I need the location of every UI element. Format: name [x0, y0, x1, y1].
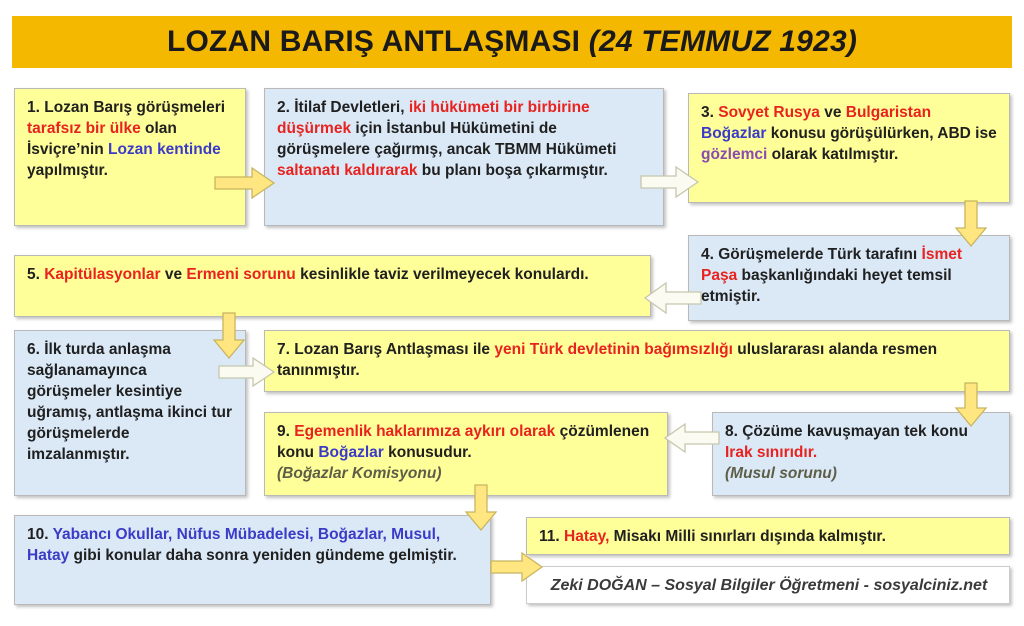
box9-highlight-blue-1: Boğazlar [318, 444, 383, 461]
box4-text-part2: başkanlığındaki heyet temsil etmiştir. [701, 267, 952, 305]
info-box-7: 7. Lozan Barış Antlaşması ile yeni Türk … [264, 330, 1010, 392]
box2-highlight-red-2: saltanatı kaldırarak [277, 162, 417, 179]
box3-text-part1: ve [820, 104, 846, 121]
box5-text-part2: kesinlikle taviz verilmeyecek konulardı. [296, 266, 589, 283]
arrow-box2-to-box3 [640, 165, 700, 199]
box8-note: (Musul sorunu) [725, 465, 837, 482]
arrow-box4-to-box5 [644, 281, 702, 315]
page-title-banner: LOZAN BARIŞ ANTLAŞMASI (24 TEMMUZ 1923) [12, 16, 1012, 68]
box5-highlight-red-1: Kapitülasyonlar [44, 266, 160, 283]
box1-text-part1: 1. Lozan Barış görüşmeleri [27, 99, 225, 116]
page-title-main: LOZAN BARIŞ ANTLAŞMASI [167, 25, 589, 58]
box3-highlight-blue-1: Boğazlar [701, 125, 766, 142]
arrow-box5-to-box6 [212, 312, 246, 360]
box2-text-part3: bu planı boşa çıkarmıştır. [417, 162, 607, 179]
page-title-date: (24 TEMMUZ 1923) [589, 25, 857, 58]
box8-text-part1: 8. Çözüme kavuşmayan tek konu [725, 423, 968, 440]
box11-number: 11. [539, 528, 564, 545]
box2-text-part1: 2. İtilaf Devletleri, [277, 99, 409, 116]
box9-text-part2: konusudur. [384, 444, 472, 461]
box5-number: 5. [27, 266, 44, 283]
box3-text-part4: olarak katılmıştır. [767, 146, 898, 163]
box11-highlight-red-1: Hatay, [564, 528, 609, 545]
box1-highlight-red-1: tarafsız bir ülke [27, 120, 141, 137]
box1-text-part3: yapılmıştır. [27, 162, 108, 179]
arrow-box10-to-box11 [490, 551, 544, 583]
arrow-box1-to-box2 [214, 166, 276, 200]
box5-highlight-red-2: Ermeni sorunu [186, 266, 295, 283]
box7-highlight-red-1: yeni Türk devletinin bağımsızlığı [494, 341, 733, 358]
info-box-1: 1. Lozan Barış görüşmeleri tarafsız bir … [14, 88, 246, 226]
box10-number: 10. [27, 526, 53, 543]
arrow-box9-to-box10 [464, 484, 498, 532]
box3-highlight-purple-1: gözlemci [701, 146, 767, 163]
box4-text-part1: 4. Görüşmelerde Türk tarafını [701, 246, 922, 263]
credit-text: Zeki DOĞAN – Sosyal Bilgiler Öğretmeni -… [539, 575, 999, 597]
info-box-5: 5. Kapitülasyonlar ve Ermeni sorunu kesi… [14, 255, 651, 317]
box3-highlight-red-1: Sovyet Rusya [718, 104, 820, 121]
arrow-box7-to-box8 [954, 382, 988, 428]
box9-highlight-red-1: Egemenlik haklarımıza aykırı olarak [294, 423, 555, 440]
info-box-10: 10. Yabancı Okullar, Nüfus Mübadelesi, B… [14, 515, 491, 605]
box5-text-part1: ve [161, 266, 187, 283]
box8-highlight-red-1: Irak sınırıdır. [725, 444, 817, 461]
info-box-2: 2. İtilaf Devletleri, iki hükümeti bir b… [264, 88, 664, 226]
page-title: LOZAN BARIŞ ANTLAŞMASI (24 TEMMUZ 1923) [167, 25, 857, 59]
box3-number: 3. [701, 104, 718, 121]
arrow-box8-to-box9 [664, 422, 720, 454]
info-box-11: 11. Hatay, Misakı Milli sınırları dışınd… [526, 517, 1010, 555]
box3-highlight-red-2: Bulgaristan [846, 104, 931, 121]
box10-text-part1: gibi konular daha sonra yeniden gündeme … [69, 547, 457, 564]
box1-highlight-blue-1: Lozan kentinde [108, 141, 221, 158]
box9-number: 9. [277, 423, 294, 440]
arrow-box6-to-box7 [218, 356, 276, 388]
box6-text: 6. İlk turda anlaşma sağlanamayınca görü… [27, 341, 232, 463]
box7-text-part1: 7. Lozan Barış Antlaşması ile [277, 341, 494, 358]
box11-text-part1: Misakı Milli sınırları dışında kalmıştır… [609, 528, 886, 545]
arrow-box3-to-box4 [954, 200, 988, 248]
box9-note: (Boğazlar Komisyonu) [277, 465, 441, 482]
credit-box: Zeki DOĞAN – Sosyal Bilgiler Öğretmeni -… [526, 566, 1010, 604]
diagram-canvas: LOZAN BARIŞ ANTLAŞMASI (24 TEMMUZ 1923) … [0, 0, 1024, 626]
info-box-3: 3. Sovyet Rusya ve Bulgaristan Boğazlar … [688, 93, 1010, 203]
box3-text-part3: konusu görüşülürken, ABD ise [766, 125, 996, 142]
